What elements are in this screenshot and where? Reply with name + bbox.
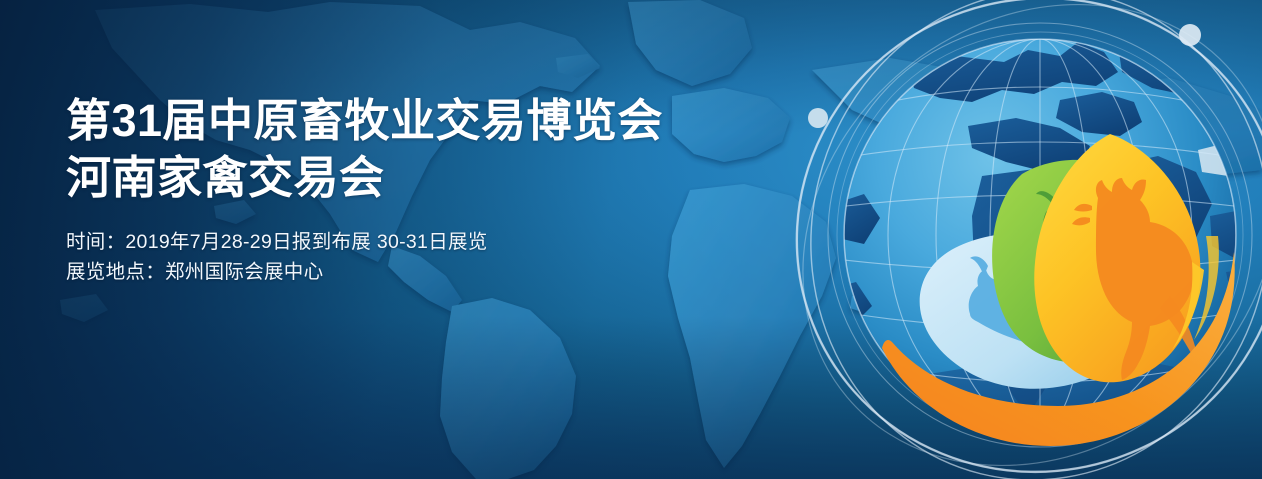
banner-text-block: 第31届中原畜牧业交易博览会 河南家禽交易会 时间：2019年7月28-29日报… — [66, 92, 766, 287]
orbit-node-icon — [808, 108, 828, 128]
banner-title-line-1: 第31届中原畜牧业交易博览会 — [66, 92, 766, 149]
banner-title-line-2: 河南家禽交易会 — [66, 149, 766, 206]
banner-venue-line: 展览地点：郑州国际会展中心 — [66, 257, 766, 287]
banner-info-block: 时间：2019年7月28-29日报到布展 30-31日展览 展览地点：郑州国际会… — [66, 227, 766, 287]
expo-banner: 第31届中原畜牧业交易博览会 河南家禽交易会 时间：2019年7月28-29日报… — [0, 0, 1262, 479]
orbit-node-icon — [1179, 24, 1201, 46]
globe-livestock-emblem — [760, 0, 1262, 479]
banner-date-line: 时间：2019年7月28-29日报到布展 30-31日展览 — [66, 227, 766, 257]
